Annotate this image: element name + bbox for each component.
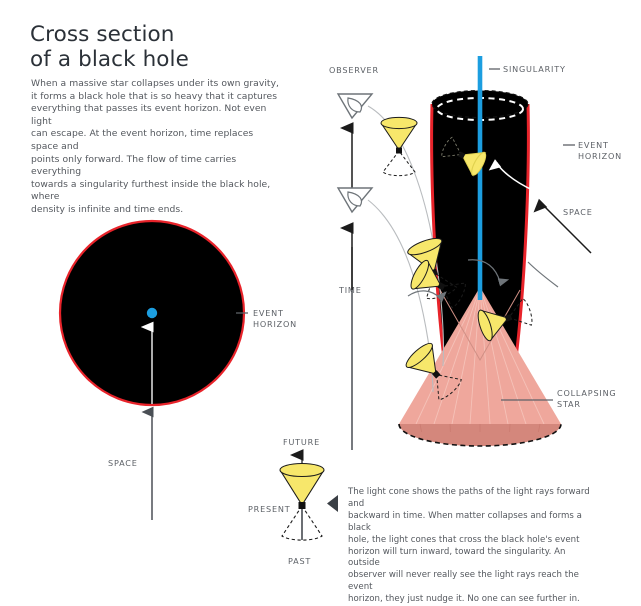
lightcone-legend-graphic <box>280 455 338 540</box>
observer-eye-icon-2 <box>338 188 372 212</box>
cone-turn-arrow-outer <box>528 262 558 287</box>
observer-eye-icon <box>338 94 372 118</box>
lightcone-outside-1 <box>381 117 417 175</box>
diagram-graphics <box>0 0 641 575</box>
legend-future-cone-top <box>280 464 324 477</box>
cone-turn-arrow-left <box>408 291 440 298</box>
black-hole-cross-section <box>60 221 248 520</box>
legend-present-point <box>299 502 306 509</box>
circle-singularity-dot <box>147 308 157 318</box>
space-arrow <box>542 204 591 253</box>
infographic-canvas: Cross section of a black hole When a mas… <box>0 0 641 575</box>
caption-pointer-icon <box>327 495 338 512</box>
collapsing-star-funnel <box>338 56 591 450</box>
